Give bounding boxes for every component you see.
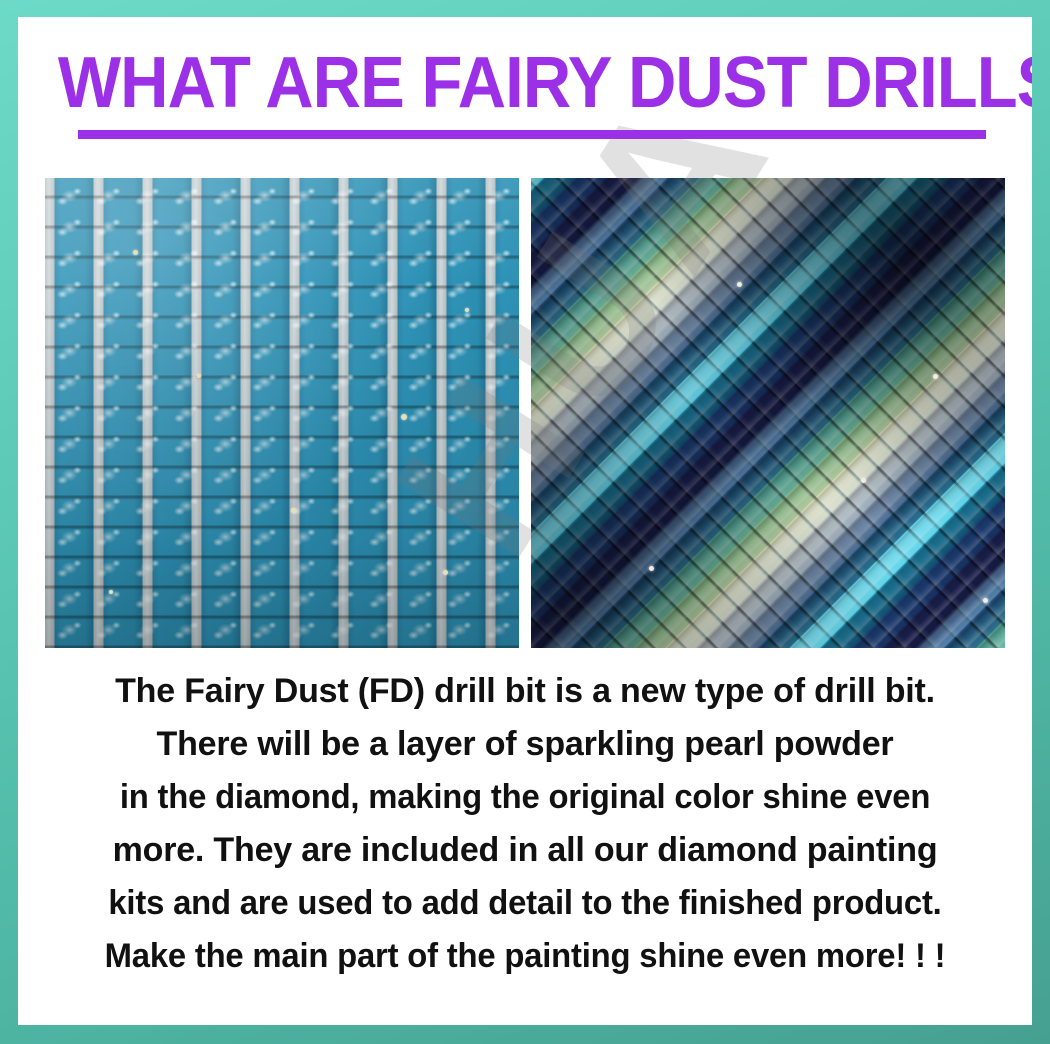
body-line: Make the main part of the painting shine… xyxy=(36,930,1015,983)
white-content-card: WHAT ARE FAIRY DUST DRILLS ? xyxy=(18,17,1032,1025)
stray-speck xyxy=(109,590,113,594)
title-underline xyxy=(78,130,986,139)
body-line: kits and are used to add detail to the f… xyxy=(36,877,1015,930)
photo-row xyxy=(45,178,1005,648)
body-line: The Fairy Dust (FD) drill bit is a new t… xyxy=(18,665,1032,718)
stray-speck xyxy=(291,508,296,513)
multicolor-drill-vignette xyxy=(531,178,1005,648)
stray-speck xyxy=(401,414,407,420)
stray-speck xyxy=(443,570,448,575)
stray-speck xyxy=(983,598,988,603)
stray-speck xyxy=(737,282,742,287)
stray-speck xyxy=(133,250,138,255)
fairy-dust-drills-infographic: WHAT ARE FAIRY DUST DRILLS ? xyxy=(0,0,1050,1044)
stray-speck xyxy=(649,566,654,571)
page-title-text: WHAT ARE FAIRY DUST DRILLS ? xyxy=(58,45,1032,121)
stray-speck xyxy=(465,308,469,312)
body-line: There will be a layer of sparkling pearl… xyxy=(18,718,1032,771)
page-title: WHAT ARE FAIRY DUST DRILLS ? xyxy=(18,45,1032,121)
fairy-dust-drill-closeup-teal-image xyxy=(45,178,519,648)
fairy-dust-drill-closeup-multicolor-image xyxy=(531,178,1005,648)
body-line: more. They are included in all our diamo… xyxy=(18,824,1032,877)
body-copy: The Fairy Dust (FD) drill bit is a new t… xyxy=(18,665,1032,983)
stray-speck xyxy=(933,374,938,379)
teal-drill-shading xyxy=(45,178,519,648)
stray-speck xyxy=(197,374,201,378)
stray-speck xyxy=(861,478,866,483)
body-line: in the diamond, making the original colo… xyxy=(36,771,1015,824)
